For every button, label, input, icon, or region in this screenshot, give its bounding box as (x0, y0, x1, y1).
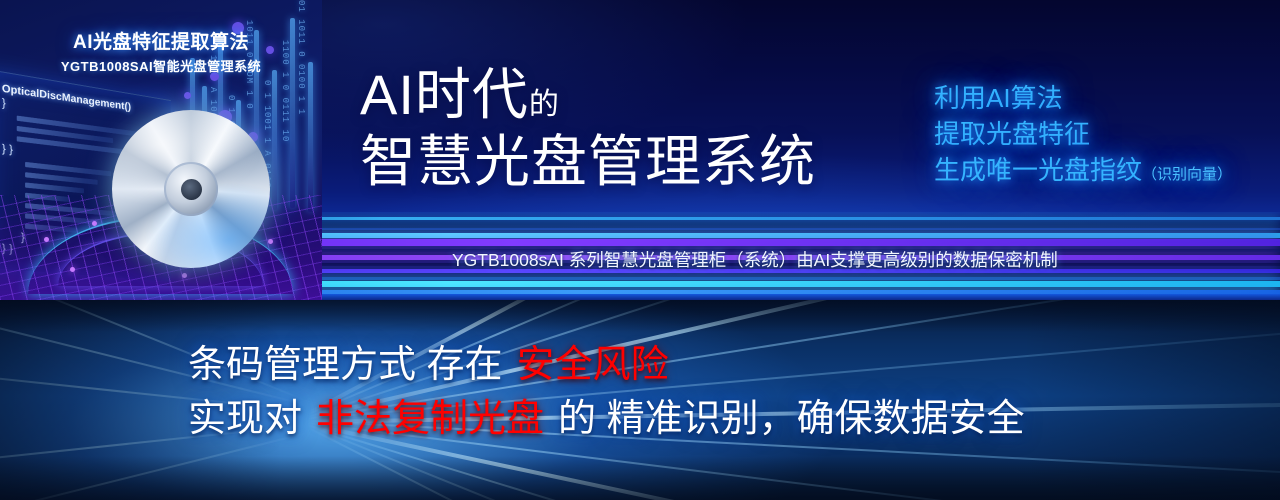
hero-title-line2: 智慧光盘管理系统 (360, 133, 920, 190)
feature-item-2: 提取光盘特征 (934, 116, 1280, 152)
binary-bar (272, 70, 277, 210)
feature-item-3-text: 生成唯一光盘指纹 (934, 155, 1142, 185)
feature-item-1: 利用AI算法 (934, 80, 1280, 116)
bottom-line-2-white-b: 的 精准识别，确保数据安全 (558, 398, 1025, 440)
bottom-line-1-highlight: 安全风险 (517, 344, 669, 386)
bottom-section: 条码管理方式 存在安全风险 实现对非法复制光盘的 精准识别，确保数据安全 (0, 300, 1280, 500)
feature-list: 利用AI算法 提取光盘特征 生成唯一光盘指纹（识别向量） (934, 80, 1280, 193)
promo-banner: 01 1011 0 0100 1 1 1100 1 0 0111 10 0 1 … (0, 0, 1280, 500)
hero-title: AI时代的 智慧光盘管理系统 (360, 66, 920, 190)
hero-section: 01 1011 0 0100 1 1 1100 1 0 0111 10 0 1 … (0, 0, 1280, 300)
bottom-line-1: 条码管理方式 存在安全风险 (0, 338, 1280, 392)
binary-dot (184, 92, 191, 99)
binary-bar (308, 62, 313, 212)
bottom-line-2-highlight: 非法复制光盘 (316, 398, 544, 440)
grid-node (44, 237, 49, 242)
product-panel-subtitle: YGTB1008SAI智能光盘管理系统 (0, 56, 322, 75)
binary-column: 01 1011 0 0100 1 1 (296, 0, 306, 150)
hero-title-particle: 的 (529, 88, 560, 121)
hero-title-line1: AI时代的 (360, 66, 920, 123)
product-panel-title: AI光盘特征提取算法 (0, 27, 322, 54)
hero-subtitle-text: YGTB1008sAI 系列智慧光盘管理柜（系统）由AI支撑更高级别的数据保密机… (452, 245, 1058, 275)
feature-item-3: 生成唯一光盘指纹（识别向量） (934, 152, 1280, 193)
feature-item-3-note: （识别向量） (1142, 166, 1232, 183)
grid-node (92, 221, 97, 226)
bottom-message: 条码管理方式 存在安全风险 实现对非法复制光盘的 精准识别，确保数据安全 (0, 338, 1280, 446)
hero-subtitle-bar: YGTB1008sAI 系列智慧光盘管理柜（系统）由AI支撑更高级别的数据保密机… (0, 245, 1280, 275)
bottom-line-2-white-a: 实现对 (188, 398, 302, 440)
code-line (25, 182, 84, 193)
bottom-line-2: 实现对非法复制光盘的 精准识别，确保数据安全 (0, 392, 1280, 446)
disc-center-hole (181, 179, 202, 200)
bottom-line-1-white: 条码管理方式 存在 (188, 344, 503, 386)
hero-title-main-text: AI时代 (360, 63, 529, 126)
